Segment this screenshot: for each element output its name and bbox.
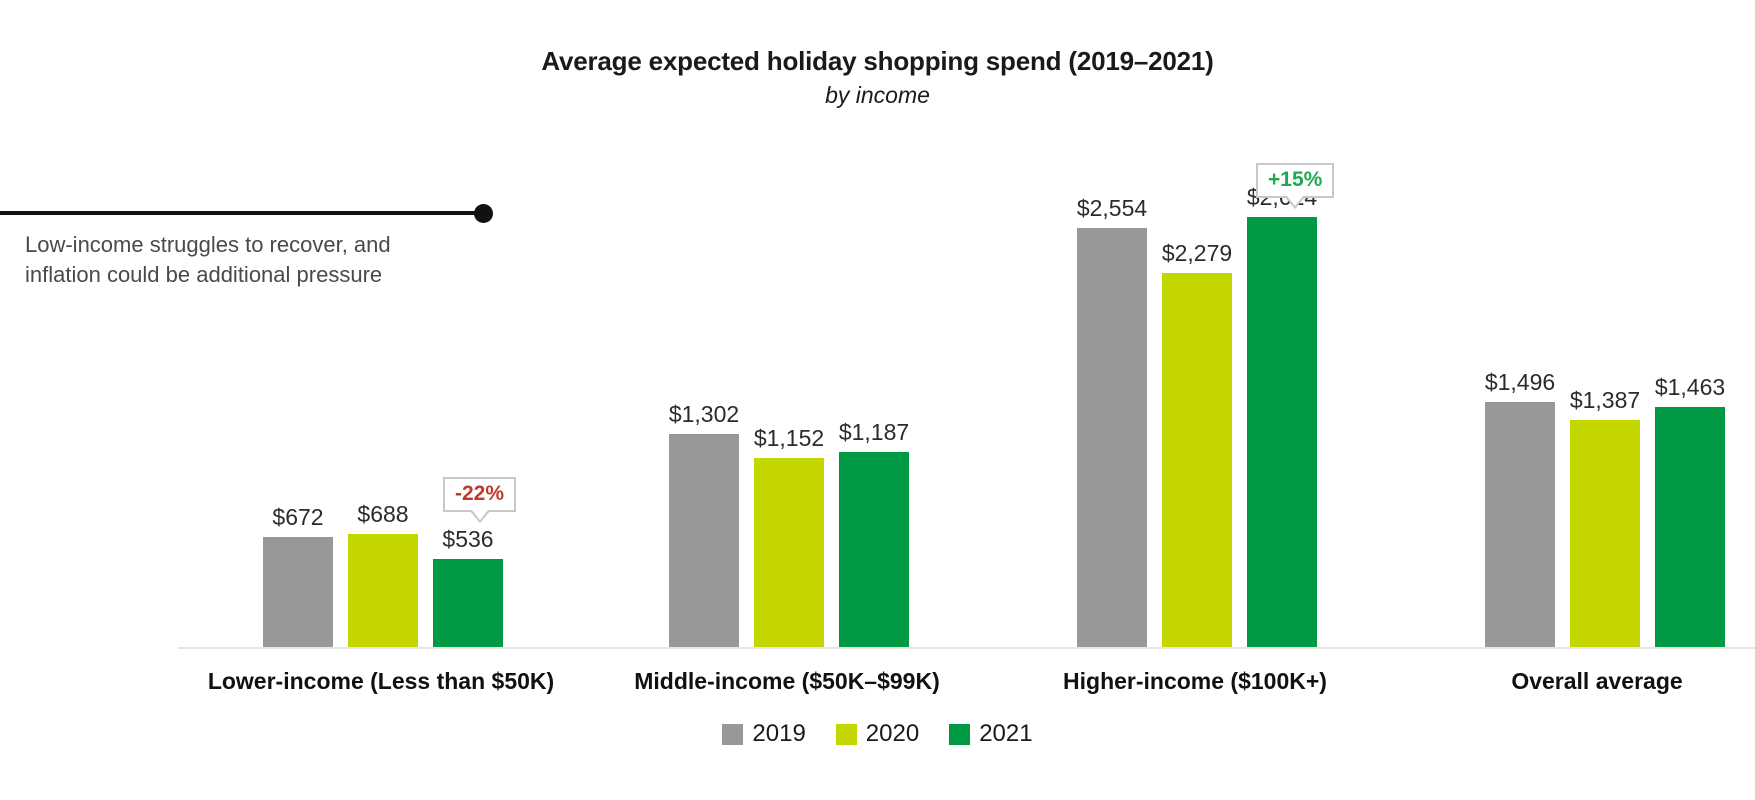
- bar-fill: [669, 434, 739, 647]
- bar-middle-income-2021[interactable]: $1,187: [839, 452, 909, 647]
- chart-subtitle: by income: [0, 82, 1755, 109]
- bar-lower-income-2019[interactable]: $672: [263, 537, 333, 647]
- callout-endpoint-dot: [474, 204, 493, 223]
- bar-fill: [1162, 273, 1232, 647]
- badge-pointer: [469, 510, 491, 523]
- bar-lower-income-2020[interactable]: $688: [348, 534, 418, 647]
- badge-label: -22%: [455, 482, 504, 505]
- bar-value-label: $2,279: [1162, 240, 1232, 267]
- chart-title: Average expected holiday shopping spend …: [0, 46, 1755, 77]
- bar-middle-income-2019[interactable]: $1,302: [669, 434, 739, 647]
- bar-fill: [1570, 420, 1640, 647]
- bar-middle-income-2020[interactable]: $1,152: [754, 458, 824, 647]
- bar-fill: [754, 458, 824, 647]
- x-axis-baseline: [178, 647, 1755, 649]
- callout-line-1: Low-income struggles to recover, and: [25, 230, 465, 260]
- badge-label: +15%: [1268, 168, 1322, 191]
- bar-value-label: $1,302: [669, 401, 739, 428]
- legend-swatch-icon: [949, 724, 970, 745]
- bar-fill: [348, 534, 418, 647]
- badge-higher-income: +15%: [1256, 163, 1334, 198]
- chart-canvas: Average expected holiday shopping spend …: [0, 0, 1755, 800]
- bar-overall-average-2019[interactable]: $1,496: [1485, 402, 1555, 647]
- category-label-overall-average: Overall average: [1511, 668, 1682, 695]
- bar-value-label: $1,387: [1570, 387, 1640, 414]
- bar-overall-average-2021[interactable]: $1,463: [1655, 407, 1725, 647]
- legend-item-2021[interactable]: 2021: [949, 720, 1032, 748]
- bar-overall-average-2020[interactable]: $1,387: [1570, 420, 1640, 647]
- legend-item-2019[interactable]: 2019: [722, 720, 805, 748]
- bar-value-label: $688: [357, 501, 408, 528]
- badge-pointer: [1284, 196, 1306, 209]
- bar-fill: [1485, 402, 1555, 647]
- category-label-higher-income: Higher-income ($100K+): [1063, 668, 1327, 695]
- callout-leader-line: [0, 211, 484, 215]
- category-label-lower-income: Lower-income (Less than $50K): [208, 668, 554, 695]
- bar-fill: [839, 452, 909, 647]
- legend-swatch-icon: [722, 724, 743, 745]
- legend-label: 2021: [979, 720, 1032, 748]
- callout-annotation-text: Low-income struggles to recover, and inf…: [25, 230, 465, 289]
- bar-higher-income-2021[interactable]: $2,624: [1247, 217, 1317, 647]
- legend-label: 2020: [866, 720, 919, 748]
- bar-value-label: $1,187: [839, 419, 909, 446]
- bar-value-label: $1,463: [1655, 374, 1725, 401]
- bar-lower-income-2021[interactable]: $536: [433, 559, 503, 647]
- legend-label: 2019: [752, 720, 805, 748]
- bar-fill: [1077, 228, 1147, 647]
- chart-legend: 2019 2020 2021: [0, 720, 1755, 748]
- bar-value-label: $672: [272, 504, 323, 531]
- bar-fill: [1247, 217, 1317, 647]
- bar-higher-income-2019[interactable]: $2,554: [1077, 228, 1147, 647]
- badge-lower-income: -22%: [443, 477, 516, 512]
- bar-higher-income-2020[interactable]: $2,279: [1162, 273, 1232, 647]
- bar-fill: [433, 559, 503, 647]
- bar-fill: [263, 537, 333, 647]
- bar-value-label: $536: [442, 526, 493, 553]
- legend-swatch-icon: [836, 724, 857, 745]
- legend-item-2020[interactable]: 2020: [836, 720, 919, 748]
- bar-value-label: $1,152: [754, 425, 824, 452]
- bar-value-label: $1,496: [1485, 369, 1555, 396]
- bar-value-label: $2,554: [1077, 195, 1147, 222]
- category-label-middle-income: Middle-income ($50K–$99K): [634, 668, 939, 695]
- bar-fill: [1655, 407, 1725, 647]
- callout-line-2: inflation could be additional pressure: [25, 260, 465, 290]
